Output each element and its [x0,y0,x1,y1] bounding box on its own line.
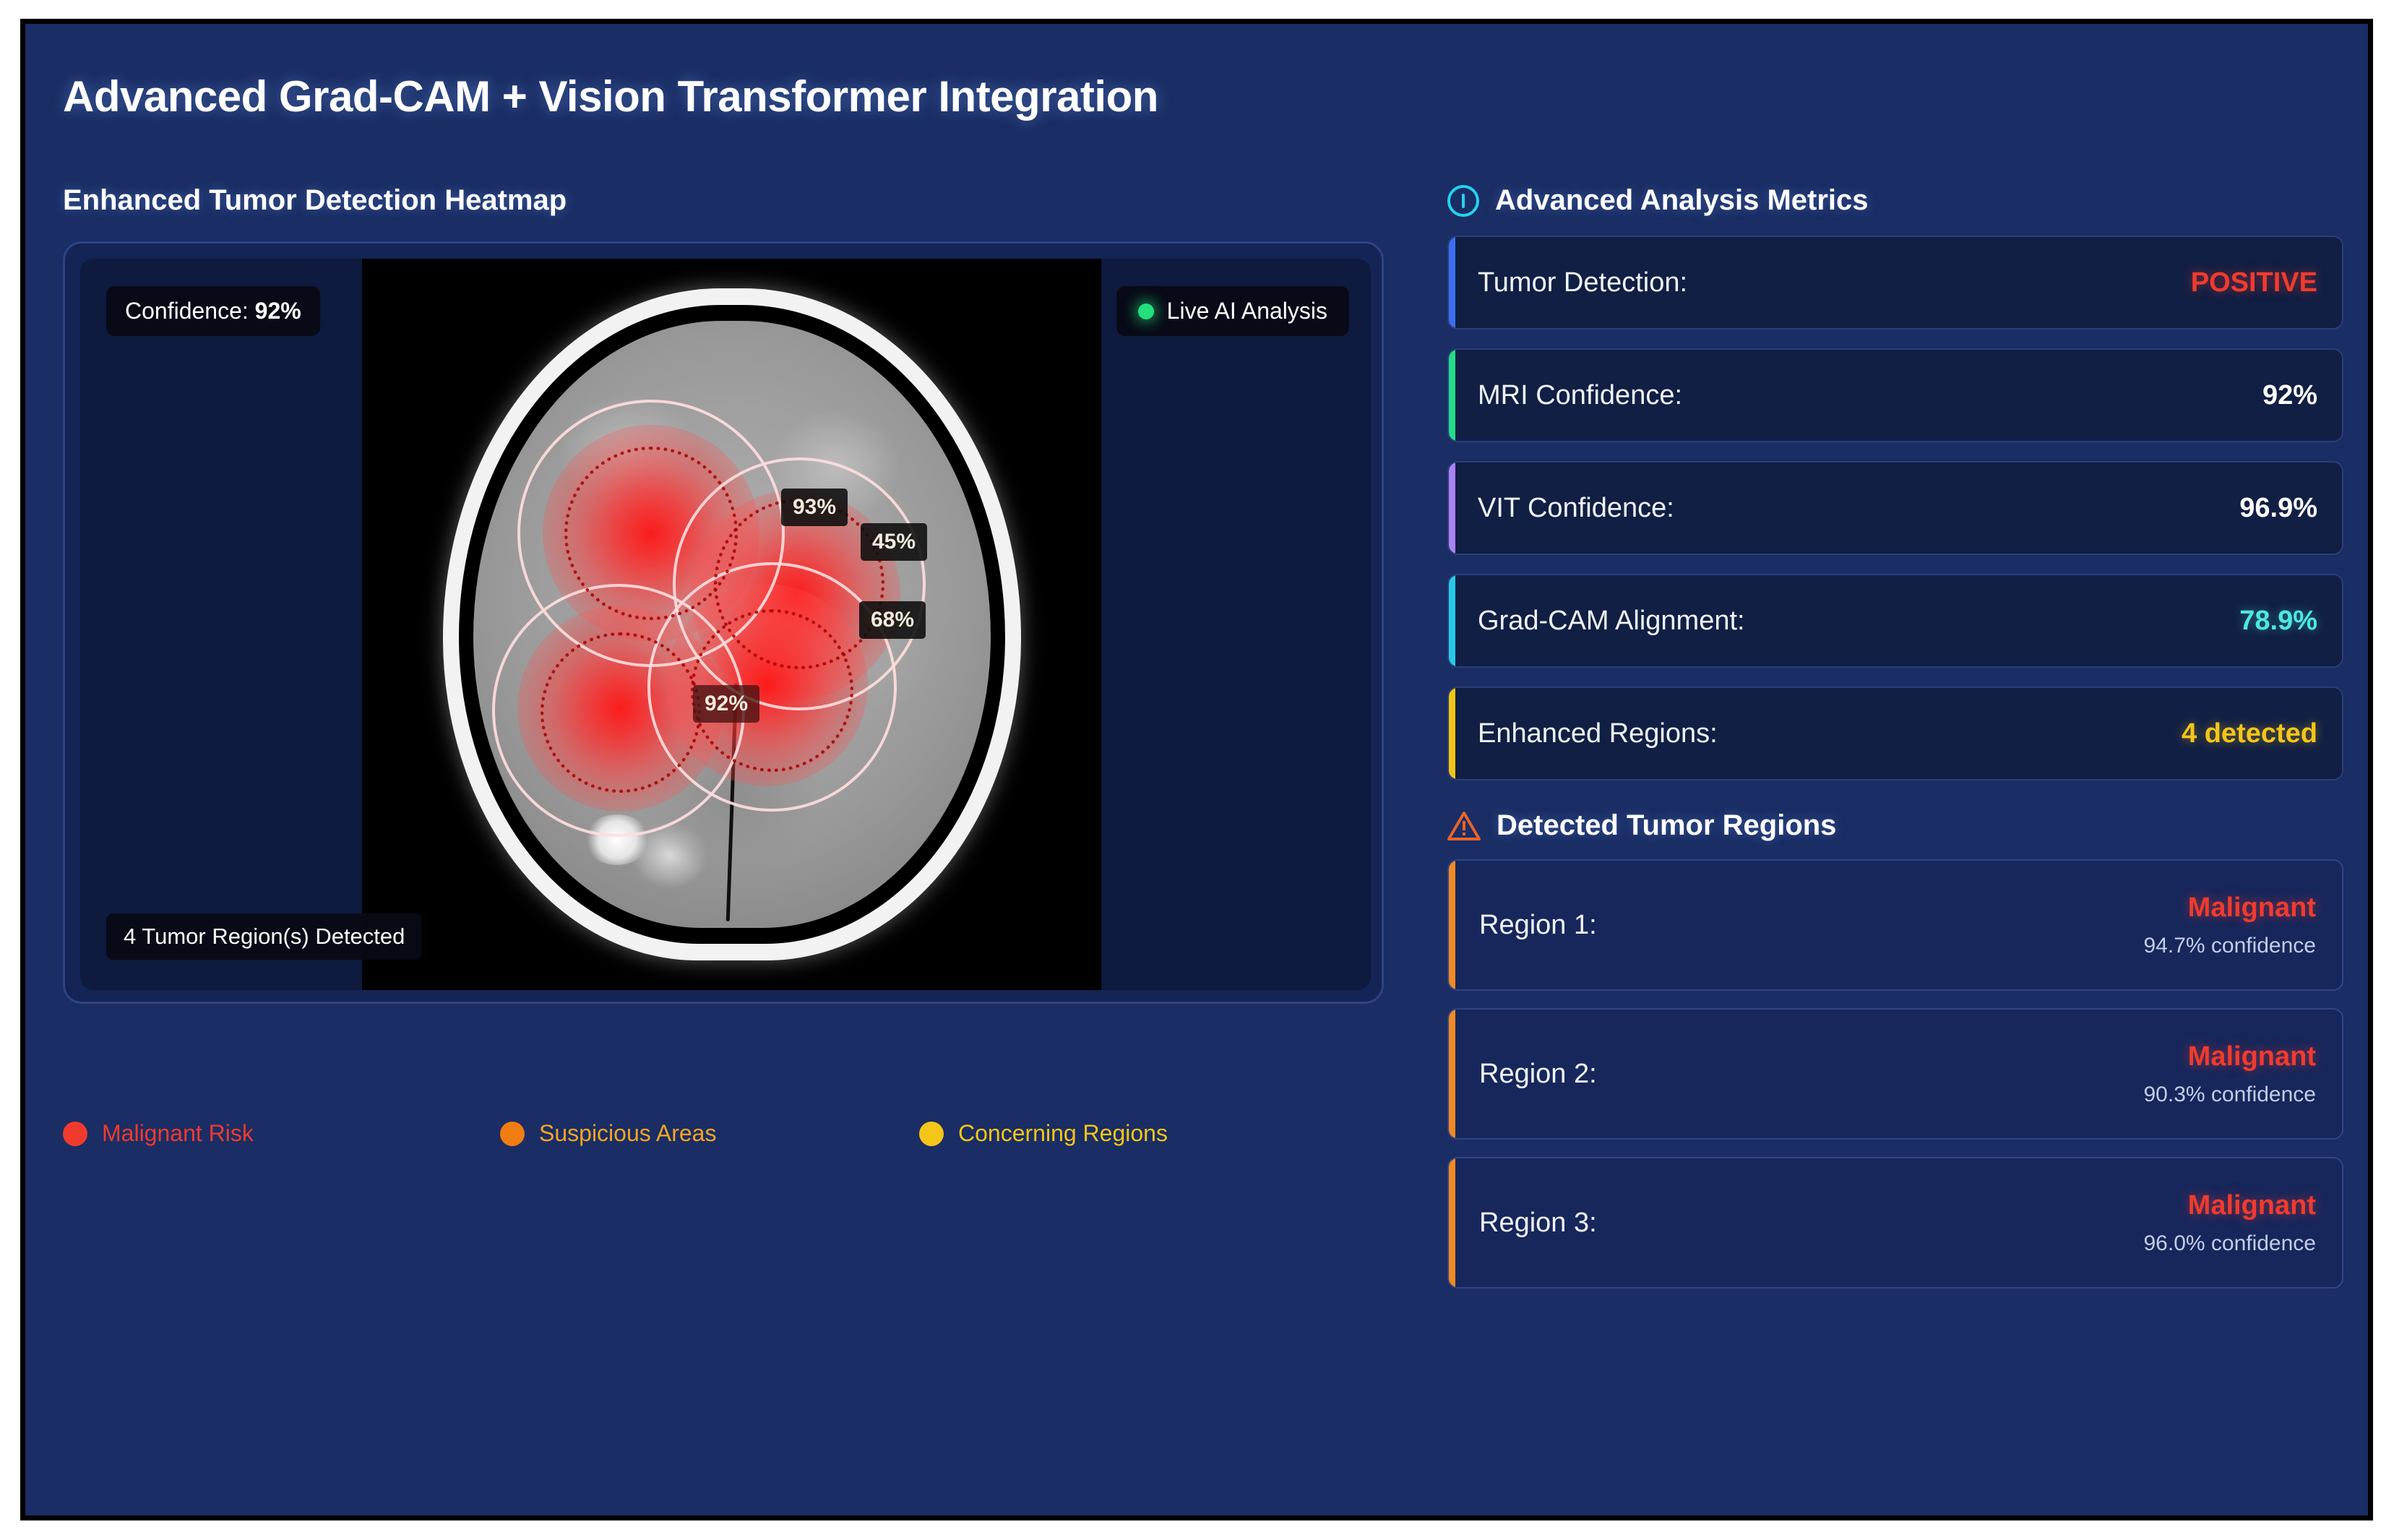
metric-row-enhanced-regions[interactable]: Enhanced Regions: 4 detected [1447,687,2343,780]
heatmap-section-title: Enhanced Tumor Detection Heatmap [63,184,1384,217]
legend-label: Suspicious Areas [539,1120,716,1147]
metric-value: 96.9% [2239,493,2317,524]
heat-label-4: 92% [693,685,759,723]
regions-section-head: Detected Tumor Regions [1447,809,2343,842]
region-detail: Malignant 96.0% confidence [2143,1190,2316,1256]
legend-dot-icon [63,1122,87,1146]
metric-row-mri-confidence[interactable]: MRI Confidence: 92% [1447,348,2343,442]
region-row-3[interactable]: Region 3: Malignant 96.0% confidence [1447,1157,2343,1289]
analysis-panel: Advanced Analysis Metrics Tumor Detectio… [1447,184,2343,1289]
legend-label: Malignant Risk [102,1120,254,1147]
metric-row-vit-confidence[interactable]: VIT Confidence: 96.9% [1447,461,2343,555]
info-circle-icon [1447,185,1479,217]
warning-triangle-icon [1447,811,1481,841]
legend-item-concerning-regions: Concerning Regions [919,1120,1168,1147]
region-confidence: 94.7% confidence [2143,934,2316,958]
regions-section-title: Detected Tumor Regions [1497,809,1836,842]
accent-bar [1449,1010,1455,1138]
metric-label: MRI Confidence: [1478,380,1682,411]
metric-label: Tumor Detection: [1478,267,1687,298]
region-confidence: 90.3% confidence [2143,1083,2316,1107]
heat-label-3: 68% [859,601,926,639]
accent-bar [1449,237,1455,328]
metrics-section-head: Advanced Analysis Metrics [1447,184,2343,217]
mri-image: 93% 45% 68% 92% [362,259,1101,990]
live-ai-analysis-badge: Live AI Analysis [1116,286,1349,336]
region-label: Region 3: [1479,1208,1597,1239]
confidence-chip-label: Confidence: [125,298,255,324]
region-label: Region 1: [1479,910,1597,941]
region-dotted-1 [564,447,738,620]
confidence-chip: Confidence: 92% [106,286,320,336]
accent-bar [1449,688,1455,779]
regions-detected-chip: 4 Tumor Region(s) Detected [106,913,422,960]
live-ai-analysis-label: Live AI Analysis [1167,298,1327,324]
region-status-badge: Malignant [2143,892,2316,924]
heat-label-2: 45% [861,523,927,561]
region-status-badge: Malignant [2143,1041,2316,1072]
region-confidence: 96.0% confidence [2143,1231,2316,1256]
metric-row-gradcam-alignment[interactable]: Grad-CAM Alignment: 78.9% [1447,574,2343,668]
region-row-2[interactable]: Region 2: Malignant 90.3% confidence [1447,1008,2343,1140]
metric-value: 4 detected [2182,718,2317,749]
accent-bar [1449,350,1455,441]
metric-value: 92% [2262,380,2317,411]
metric-label: Grad-CAM Alignment: [1478,606,1745,637]
region-detail: Malignant 90.3% confidence [2143,1041,2316,1107]
metric-value: 78.9% [2239,606,2317,637]
accent-bar [1449,575,1455,666]
page-title: Advanced Grad-CAM + Vision Transformer I… [63,72,1158,121]
metrics-section-title: Advanced Analysis Metrics [1495,184,1869,217]
region-row-1[interactable]: Region 1: Malignant 94.7% confidence [1447,859,2343,991]
heatmap-panel: Enhanced Tumor Detection Heatmap [63,184,1384,1004]
accent-bar [1449,1158,1455,1287]
metric-row-tumor-detection[interactable]: Tumor Detection: POSITIVE [1447,236,2343,330]
region-status-badge: Malignant [2143,1190,2316,1221]
dashboard-root: Advanced Grad-CAM + Vision Transformer I… [20,19,2373,1520]
confidence-chip-value: 92% [255,298,301,324]
region-dotted-3 [541,632,701,793]
legend-item-suspicious-areas: Suspicious Areas [500,1120,919,1147]
accent-bar [1449,861,1455,989]
scan-stage[interactable]: 93% 45% 68% 92% Confidence: 92% Live AI … [80,259,1371,990]
legend-dot-icon [919,1122,944,1146]
region-label: Region 2: [1479,1059,1597,1090]
heat-label-1: 93% [781,489,848,526]
accent-bar [1449,463,1455,554]
legend-dot-icon [500,1122,525,1146]
metric-label: Enhanced Regions: [1478,718,1718,749]
metric-value: POSITIVE [2191,267,2317,298]
legend-label: Concerning Regions [958,1120,1168,1147]
live-status-dot-icon [1138,304,1154,319]
region-detail: Malignant 94.7% confidence [2143,892,2316,958]
heatmap-card: 93% 45% 68% 92% Confidence: 92% Live AI … [63,241,1384,1004]
legend-item-malignant-risk: Malignant Risk [63,1120,500,1147]
legend: Malignant Risk Suspicious Areas Concerni… [63,1120,1364,1147]
metric-label: VIT Confidence: [1478,493,1674,524]
